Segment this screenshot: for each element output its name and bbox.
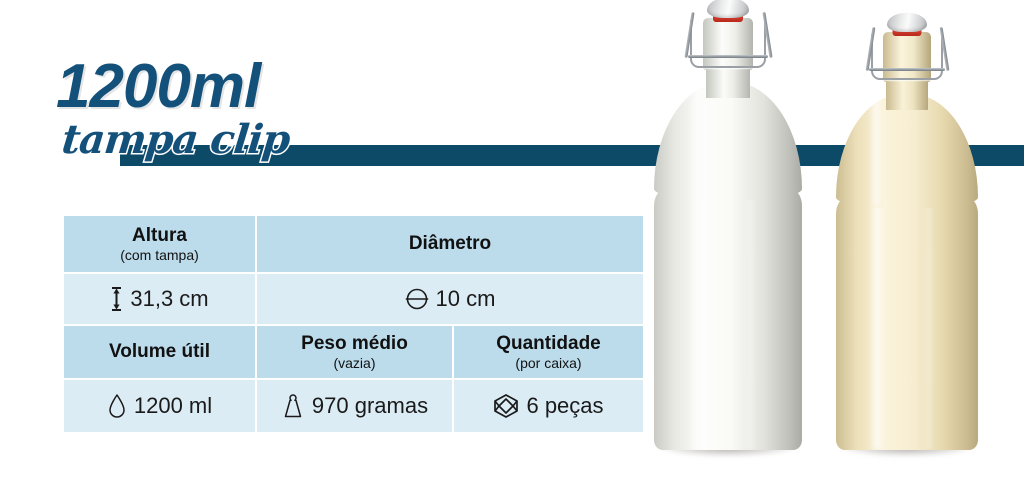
wire-bail [690,20,766,68]
cell-peso-value: 970 gramas [257,380,452,432]
cap [887,13,927,32]
header-sublabel: (por caixa) [454,355,643,372]
height-arrow-icon [110,286,123,312]
value-text: 31,3 cm [130,286,208,312]
bottle-body [836,198,978,450]
value-text: 6 peças [526,393,603,419]
value-text: 970 gramas [312,393,428,419]
cell-peso-header: Peso médio (vazia) [257,326,452,378]
bottle-cream [836,42,978,450]
table-row: Altura (com tampa) Diâmetro [64,216,643,272]
value-text: 1200 ml [134,393,212,419]
header-label: Peso médio [257,333,452,355]
table-row: 31,3 cm 10 cm [64,274,643,324]
weight-icon [281,393,305,419]
cell-volume-header: Volume útil [64,326,255,378]
header-label: Volume útil [64,341,255,363]
cell-diametro-header: Diâmetro [257,216,643,272]
cell-diametro-value: 10 cm [257,274,643,324]
page-title: 1200ml [56,58,260,117]
value-text: 10 cm [436,286,496,312]
cell-quantidade-value: 6 peças [454,380,643,432]
header-label: Altura [64,225,255,247]
droplet-icon [107,393,127,419]
cell-quantidade-header: Quantidade (por caixa) [454,326,643,378]
bottle-body [654,190,802,450]
cell-volume-value: 1200 ml [64,380,255,432]
cube-icon [493,393,519,419]
cell-altura-header: Altura (com tampa) [64,216,255,272]
header-label: Diâmetro [257,233,643,255]
bottle-shoulder [654,82,802,200]
header-sublabel: (com tampa) [64,247,255,264]
cap [707,0,749,18]
header-sublabel: (vazia) [257,355,452,372]
table-row: 1200 ml 970 gramas [64,380,643,432]
product-photo [648,0,1024,487]
spec-table: Altura (com tampa) Diâmetro [62,214,645,434]
bottle-shoulder [836,94,978,208]
wire-bail-bar [688,55,768,58]
wire-bail-bar [869,68,945,71]
spec-sheet: 1200ml tampa clip [0,0,1024,487]
page-subtitle: tampa clip [60,116,292,163]
title-block: 1200ml tampa clip [56,58,260,117]
table-row: Volume útil Peso médio (vazia) Quantidad… [64,326,643,378]
diameter-circle-icon [405,287,429,311]
bottle-white [654,30,802,450]
header-label: Quantidade [454,333,643,355]
wire-bail [871,34,943,80]
cell-altura-value: 31,3 cm [64,274,255,324]
